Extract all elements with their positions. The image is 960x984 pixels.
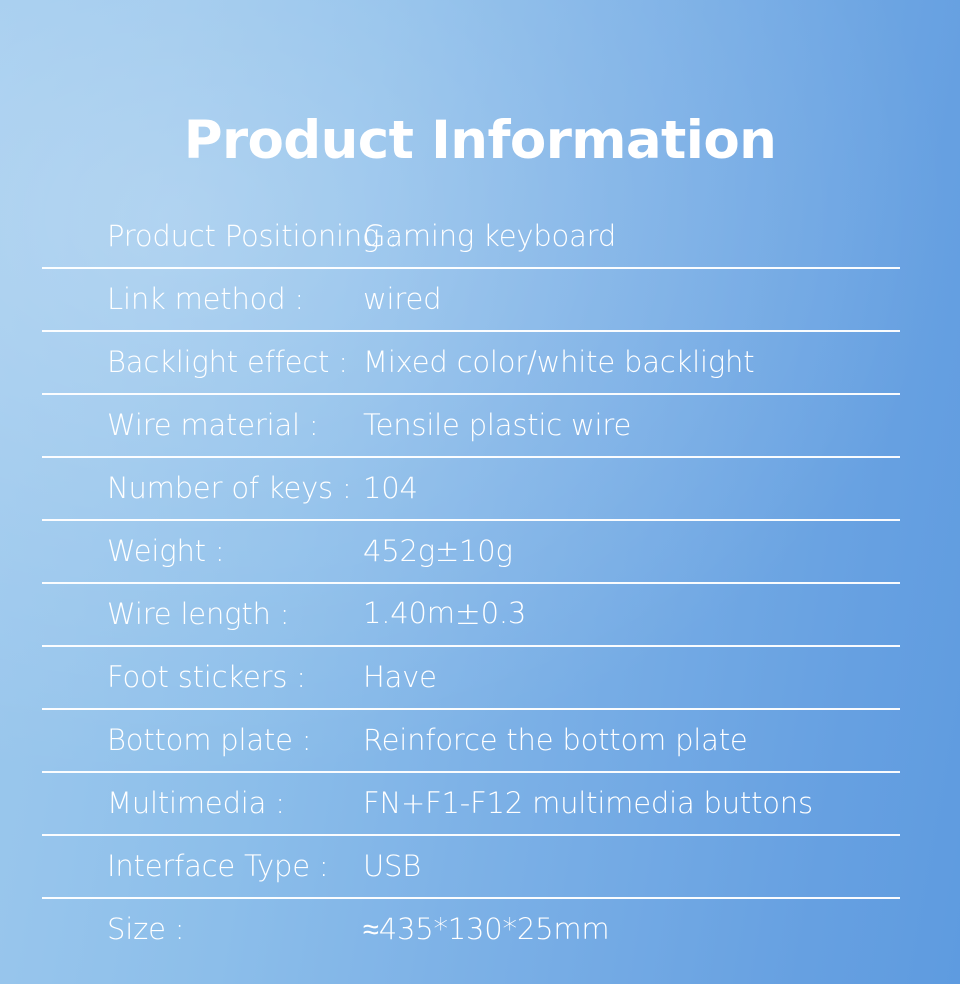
value-suffix: 0.3 [481,596,527,630]
spec-value: 452g±10g [363,536,900,566]
spec-row: Size :≈435*130*25mm [42,899,900,962]
plus-minus-symbol: ± [455,596,481,632]
spec-label: Number of keys : [42,473,363,503]
product-information-page: Product Information Product Positioning … [0,0,960,984]
spec-label: Interface Type : [42,851,363,881]
spec-row: Number of keys :104 [42,458,900,521]
spec-row: Interface Type :USB [42,836,900,899]
spec-label: Multimedia : [42,788,363,818]
spec-value: Gaming keyboard [363,221,900,251]
spec-row: Wire length :1.40m±0.3 [42,584,900,647]
spec-value: Reinforce the bottom plate [363,725,900,755]
spec-row: Wire material :Tensile plastic wire [42,395,900,458]
spec-value: 104 [363,473,900,503]
spec-label: Backlight effect : [42,347,363,377]
spec-row: Weight :452g±10g [42,521,900,584]
spec-row: Product Positioning :Gaming keyboard [42,206,900,269]
spec-value: Have [363,662,900,692]
spec-label: Bottom plate : [42,725,363,755]
spec-value: USB [363,851,900,881]
spec-row: Backlight effect :Mixed color/white back… [42,332,900,395]
spec-value: ≈435*130*25mm [363,914,900,944]
spec-value: wired [363,284,900,314]
spec-label: Size : [42,914,363,944]
spec-label: Weight : [42,536,363,566]
spec-row: Bottom plate :Reinforce the bottom plate [42,710,900,773]
value-prefix: 1.40m [363,596,455,630]
spec-label: Wire length : [42,599,363,629]
spec-label: Foot stickers : [42,662,363,692]
specification-table: Product Positioning :Gaming keyboardLink… [42,206,900,962]
spec-value: FN+F1-F12 multimedia buttons [363,788,900,818]
spec-row: Link method :wired [42,269,900,332]
spec-label: Product Positioning : [42,221,363,251]
spec-value-with-tolerance: 1.40m±0.3 [363,598,900,631]
page-title: Product Information [184,114,777,167]
spec-row: Foot stickers :Have [42,647,900,710]
spec-label: Link method : [42,284,363,314]
spec-label: Wire material : [42,410,363,440]
spec-value: Tensile plastic wire [363,410,900,440]
page-title-container: Product Information [0,78,960,202]
spec-row: Multimedia :FN+F1-F12 multimedia buttons [42,773,900,836]
spec-value: Mixed color/white backlight [363,347,900,377]
